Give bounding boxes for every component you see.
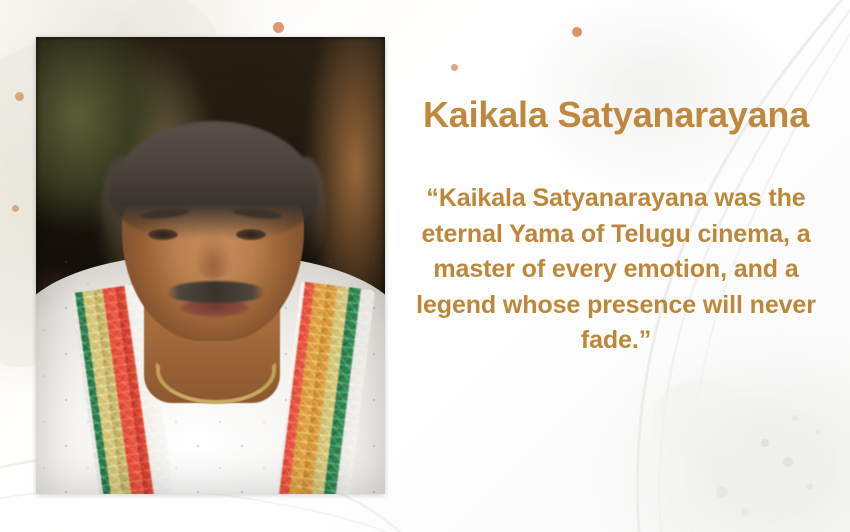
portrait-photo-content: [36, 37, 385, 494]
portrait-photo: [36, 37, 385, 494]
photo-eye-right: [236, 229, 266, 240]
quote-card: Kaikala Satyanarayana “Kaikala Satyanara…: [0, 0, 850, 532]
decor-dot: [572, 27, 582, 37]
decor-dot: [451, 64, 458, 71]
photo-eye-left: [148, 229, 178, 240]
quote-text: “Kaikala Satyanarayana was the eternal Y…: [398, 181, 834, 359]
decor-dot: [12, 205, 19, 212]
photo-mustache: [167, 281, 265, 303]
page-title: Kaikala Satyanarayana: [398, 95, 834, 135]
text-content-block: Kaikala Satyanarayana “Kaikala Satyanara…: [398, 95, 834, 359]
photo-nose: [194, 233, 232, 279]
decor-dot: [273, 22, 284, 33]
decor-dot: [15, 92, 24, 101]
